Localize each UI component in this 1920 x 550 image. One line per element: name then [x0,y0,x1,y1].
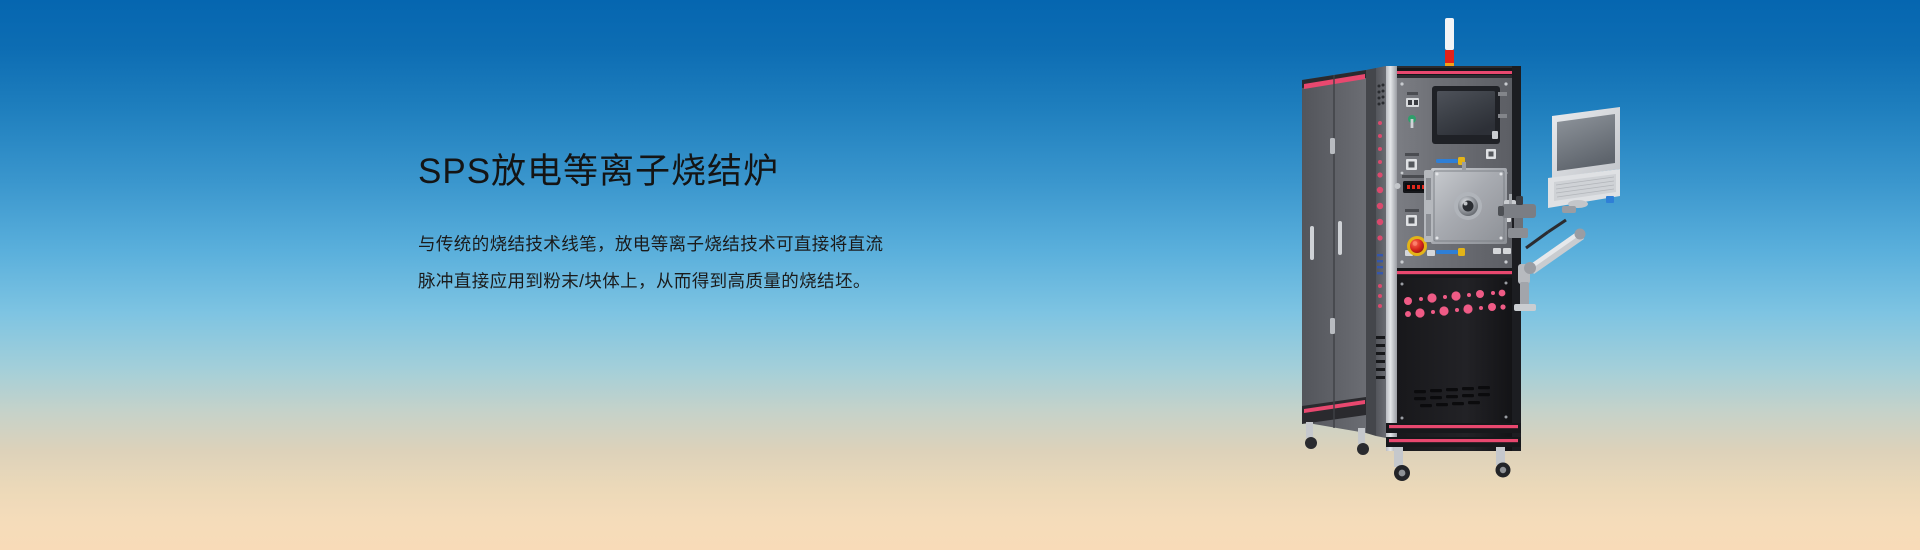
hero-banner: SPS放电等离子烧结炉 与传统的烧结技术线笔，放电等离子烧结技术可直接将直流 脉… [0,0,1920,550]
banner-copy: SPS放电等离子烧结炉 与传统的烧结技术线笔，放电等离子烧结技术可直接将直流 脉… [418,148,978,300]
description-line-2: 脉冲直接应用到粉末/块体上，从而得到高质量的烧结坯。 [418,263,978,300]
machine-mid-stripe [1397,268,1512,278]
lcd-touchscreen [1432,86,1500,144]
product-image-sps-furnace [1290,18,1620,533]
laptop-on-arm [1548,107,1620,213]
banner-description: 与传统的烧结技术线笔，放电等离子烧结技术可直接将直流 脉冲直接应用到粉末/块体上… [418,226,978,300]
left-cabinet [1302,70,1366,433]
page-title: SPS放电等离子烧结炉 [418,148,978,196]
machine-side-column [1366,66,1386,438]
description-line-1: 与传统的烧结技术线笔，放电等离子烧结技术可直接将直流 [418,226,978,263]
